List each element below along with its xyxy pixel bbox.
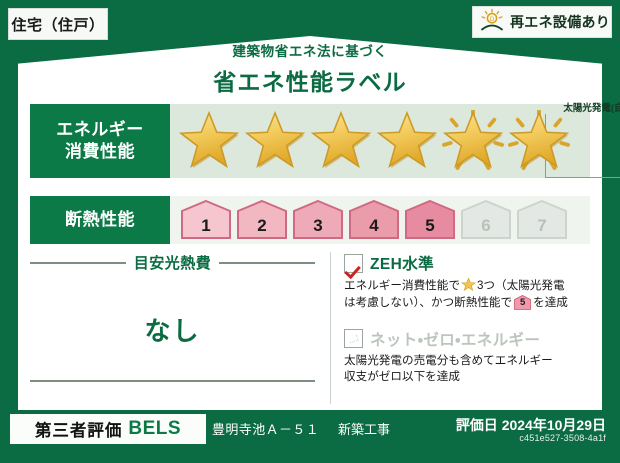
inline-star-icon	[461, 277, 476, 292]
property-name: 豊明寺池Ａ－５１	[212, 419, 319, 438]
heading-rule-right	[219, 262, 315, 264]
renewable-badge-text: 再エネ設備あり	[510, 12, 610, 32]
star-icon	[178, 110, 240, 172]
utility-cost-bottom-rule	[30, 380, 315, 382]
star-icon	[310, 110, 372, 172]
insulation-level-5: 5	[404, 199, 456, 240]
zeh-description: エネルギー消費性能で3つ（太陽光発電 は考慮しない）、かつ断熱性能で5を達成	[344, 277, 596, 312]
inline-house-icon: 5	[514, 295, 531, 310]
insulation-level-4: 4	[348, 199, 400, 240]
energy-label-line1: エネルギー	[56, 119, 144, 141]
star-solar-icon	[508, 110, 570, 172]
insulation-level-number: 7	[516, 216, 568, 236]
energy-performance-row: エネルギー 消費性能 太陽光発電(自家消費)分	[30, 104, 590, 178]
energy-label-line2: 消費性能	[56, 141, 144, 163]
insulation-level-number: 2	[236, 216, 288, 236]
nze-desc-line2: 収支がゼロ以下を達成	[344, 370, 460, 383]
label-title-block: 建築物省エネ法に基づく 省エネ性能ラベル	[0, 40, 620, 97]
svg-text:D: D	[490, 16, 495, 23]
sun-renewable-icon: D	[479, 8, 505, 37]
insulation-level-6: 6	[460, 199, 512, 240]
zeh-desc-line2-part1: は考慮しない）、かつ断熱性能で	[344, 296, 512, 309]
utility-cost-panel: 目安光熱費 なし	[30, 252, 315, 404]
insulation-performance-row: 断熱性能 1234567	[30, 196, 590, 244]
insulation-level-3: 3	[292, 199, 344, 240]
zeh-title: ZEH水準	[370, 252, 434, 274]
zeh-desc-part1: エネルギー消費性能で	[344, 279, 460, 292]
zeh-desc-part2: 3つ（太陽光発電	[477, 279, 565, 292]
nze-checkbox-unchecked-icon	[344, 329, 363, 348]
insulation-value: 1234567	[170, 196, 590, 244]
star-solar-icon	[442, 110, 504, 172]
document-id: c451e527-3508-4a1f	[519, 433, 606, 443]
insulation-label-key: 断熱性能	[30, 196, 170, 244]
insulation-level-number: 6	[460, 216, 512, 236]
utility-cost-heading-text: 目安光熱費	[134, 252, 212, 273]
nze-row: ネット・ゼロ・エネルギー	[344, 328, 596, 350]
insulation-level-number: 4	[348, 216, 400, 236]
zeh-row: ZEH水準	[344, 252, 596, 274]
renewable-badge: D 再エネ設備あり	[472, 6, 612, 38]
star-rating	[178, 104, 570, 178]
evaluation-date: 評価日 2024年10月29日	[456, 415, 606, 435]
energy-performance-label-key: エネルギー 消費性能	[30, 104, 170, 178]
zeh-checkbox-checked-icon	[344, 254, 363, 273]
insulation-level-2: 2	[236, 199, 288, 240]
third-party-evaluation-chip: 第三者評価 BELS	[10, 414, 206, 444]
inline-house-number: 5	[514, 296, 531, 310]
building-type-text: 住宅（住戸）	[11, 14, 104, 35]
utility-cost-value: なし	[30, 311, 315, 348]
panel-divider	[330, 252, 331, 404]
insulation-level-number: 5	[404, 216, 456, 236]
bels-logo-text: BELS	[128, 418, 181, 440]
standards-panel: ZEH水準 エネルギー消費性能で3つ（太陽光発電 は考慮しない）、かつ断熱性能で…	[344, 252, 596, 404]
nze-desc-line1: 太陽光発電の売電分も含めてエネルギー	[344, 354, 553, 367]
insulation-level-1: 1	[180, 199, 232, 240]
insulation-scale: 1234567	[180, 199, 568, 240]
utility-cost-heading: 目安光熱費	[30, 252, 315, 273]
building-type-chip: 住宅（住戸）	[8, 8, 108, 40]
insulation-level-number: 3	[292, 216, 344, 236]
work-type: 新築工事	[338, 419, 390, 438]
title-subtitle: 建築物省エネ法に基づく	[0, 40, 620, 60]
page-title: 省エネ性能ラベル	[0, 63, 620, 97]
nze-title: ネット・ゼロ・エネルギー	[370, 328, 540, 350]
star-icon	[244, 110, 306, 172]
insulation-level-number: 1	[180, 216, 232, 236]
energy-performance-label: 住宅（住戸） D 再エネ設備あり 建築物省エネ法に基づく 省エネ性能ラ	[0, 0, 620, 463]
energy-performance-value: 太陽光発電(自家消費)分	[170, 104, 590, 178]
third-party-text: 第三者評価	[35, 417, 123, 441]
insulation-level-7: 7	[516, 199, 568, 240]
heading-rule-left	[30, 262, 126, 264]
star-icon	[376, 110, 438, 172]
nze-description: 太陽光発電の売電分も含めてエネルギー 収支がゼロ以下を達成	[344, 353, 596, 387]
zeh-desc-line2-part2: を達成	[533, 296, 568, 309]
